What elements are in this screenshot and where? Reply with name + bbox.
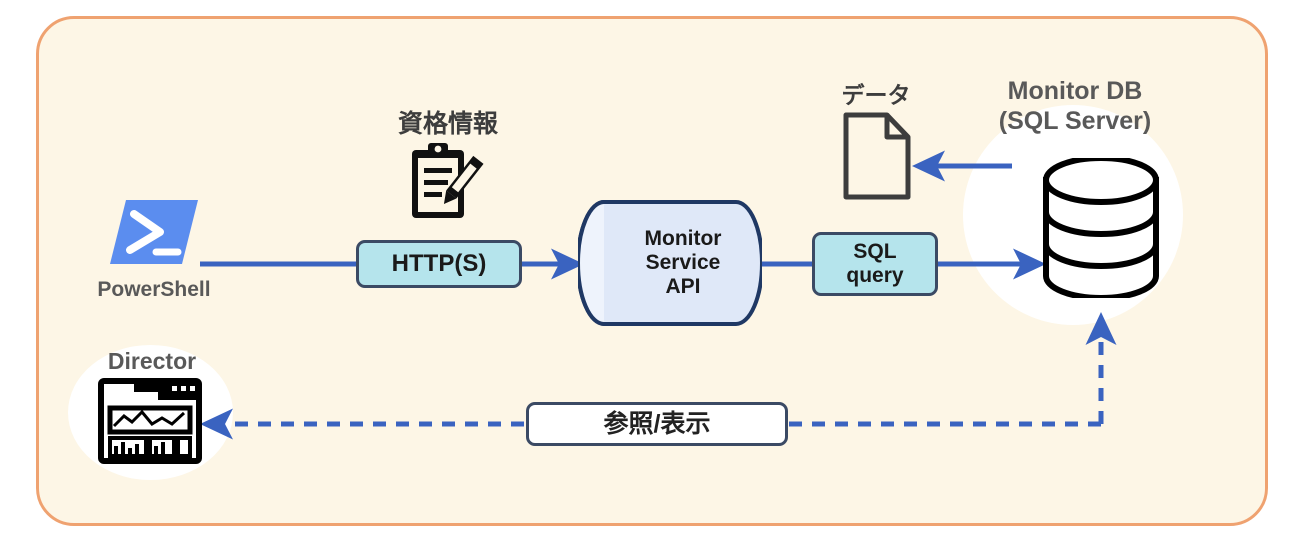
monitor-service-label: Monitor Service API [578,198,762,328]
sql-query-pill[interactable]: SQL query [812,232,938,296]
data-document-label: データ [800,76,952,110]
sql-query-line2: query [846,264,903,288]
document-icon [843,112,911,200]
monitor-db-line1: Monitor DB [975,76,1175,106]
powershell-label: PowerShell [68,278,240,302]
data-document-node[interactable] [843,112,911,200]
monitor-db-line2: (SQL Server) [975,106,1175,136]
monitor-db-node[interactable] [1038,158,1164,298]
credentials-label: 資格情報 [360,104,536,140]
monitor-service-line3: API [665,275,700,299]
director-node[interactable] [98,378,202,464]
monitor-service-line1: Monitor [645,227,722,251]
credentials-node[interactable] [404,140,492,224]
director-label: Director [72,348,232,375]
database-cylinder-icon [1038,158,1164,298]
monitor-db-label: Monitor DB (SQL Server) [975,76,1175,136]
sql-query-line1: SQL [853,240,896,264]
monitor-service-node[interactable]: Monitor Service API [578,198,762,328]
monitor-service-line2: Service [646,251,721,275]
clipboard-pencil-icon [404,140,492,224]
dashboard-icon [98,378,202,464]
http-pill[interactable]: HTTP(S) [356,240,522,288]
powershell-icon [108,196,200,268]
powershell-node[interactable] [108,196,200,268]
diagram-canvas: PowerShell 資格情報 HTTP(S) Monitor Se [0,0,1300,550]
view-pill[interactable]: 参照/表示 [526,402,788,446]
